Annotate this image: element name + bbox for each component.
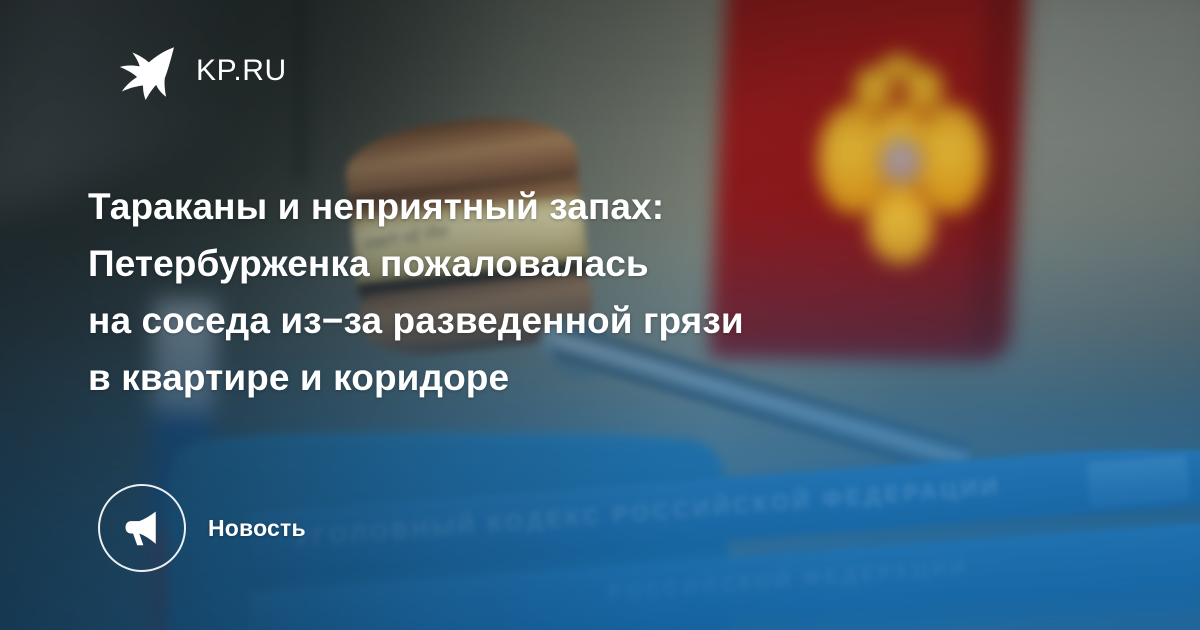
category-badge[interactable]: Новость <box>98 484 306 572</box>
badge-circle <box>98 484 186 572</box>
headline-line-1: Тараканы и неприятный запах: <box>88 178 988 235</box>
brand-logo[interactable]: KP.RU <box>110 38 287 104</box>
megaphone-icon <box>120 506 164 550</box>
headline-line-2: Петербурженка пожаловалась <box>88 235 988 292</box>
headline-line-4: в квартире и коридоре <box>88 349 988 406</box>
headline-line-3: на соседа из−за разведенной грязи <box>88 292 988 349</box>
page-title: Тараканы и неприятный запах: Петербуржен… <box>88 178 988 406</box>
badge-label: Новость <box>208 515 306 542</box>
brand-name: KP.RU <box>196 56 287 86</box>
swallow-bird-icon <box>110 38 176 104</box>
news-share-card: ourt of the УГОЛОВНЫЙ КОДЕКС РОССИЙСКОЙ … <box>0 0 1200 630</box>
card-content: KP.RU Тараканы и неприятный запах: Петер… <box>0 0 1200 630</box>
